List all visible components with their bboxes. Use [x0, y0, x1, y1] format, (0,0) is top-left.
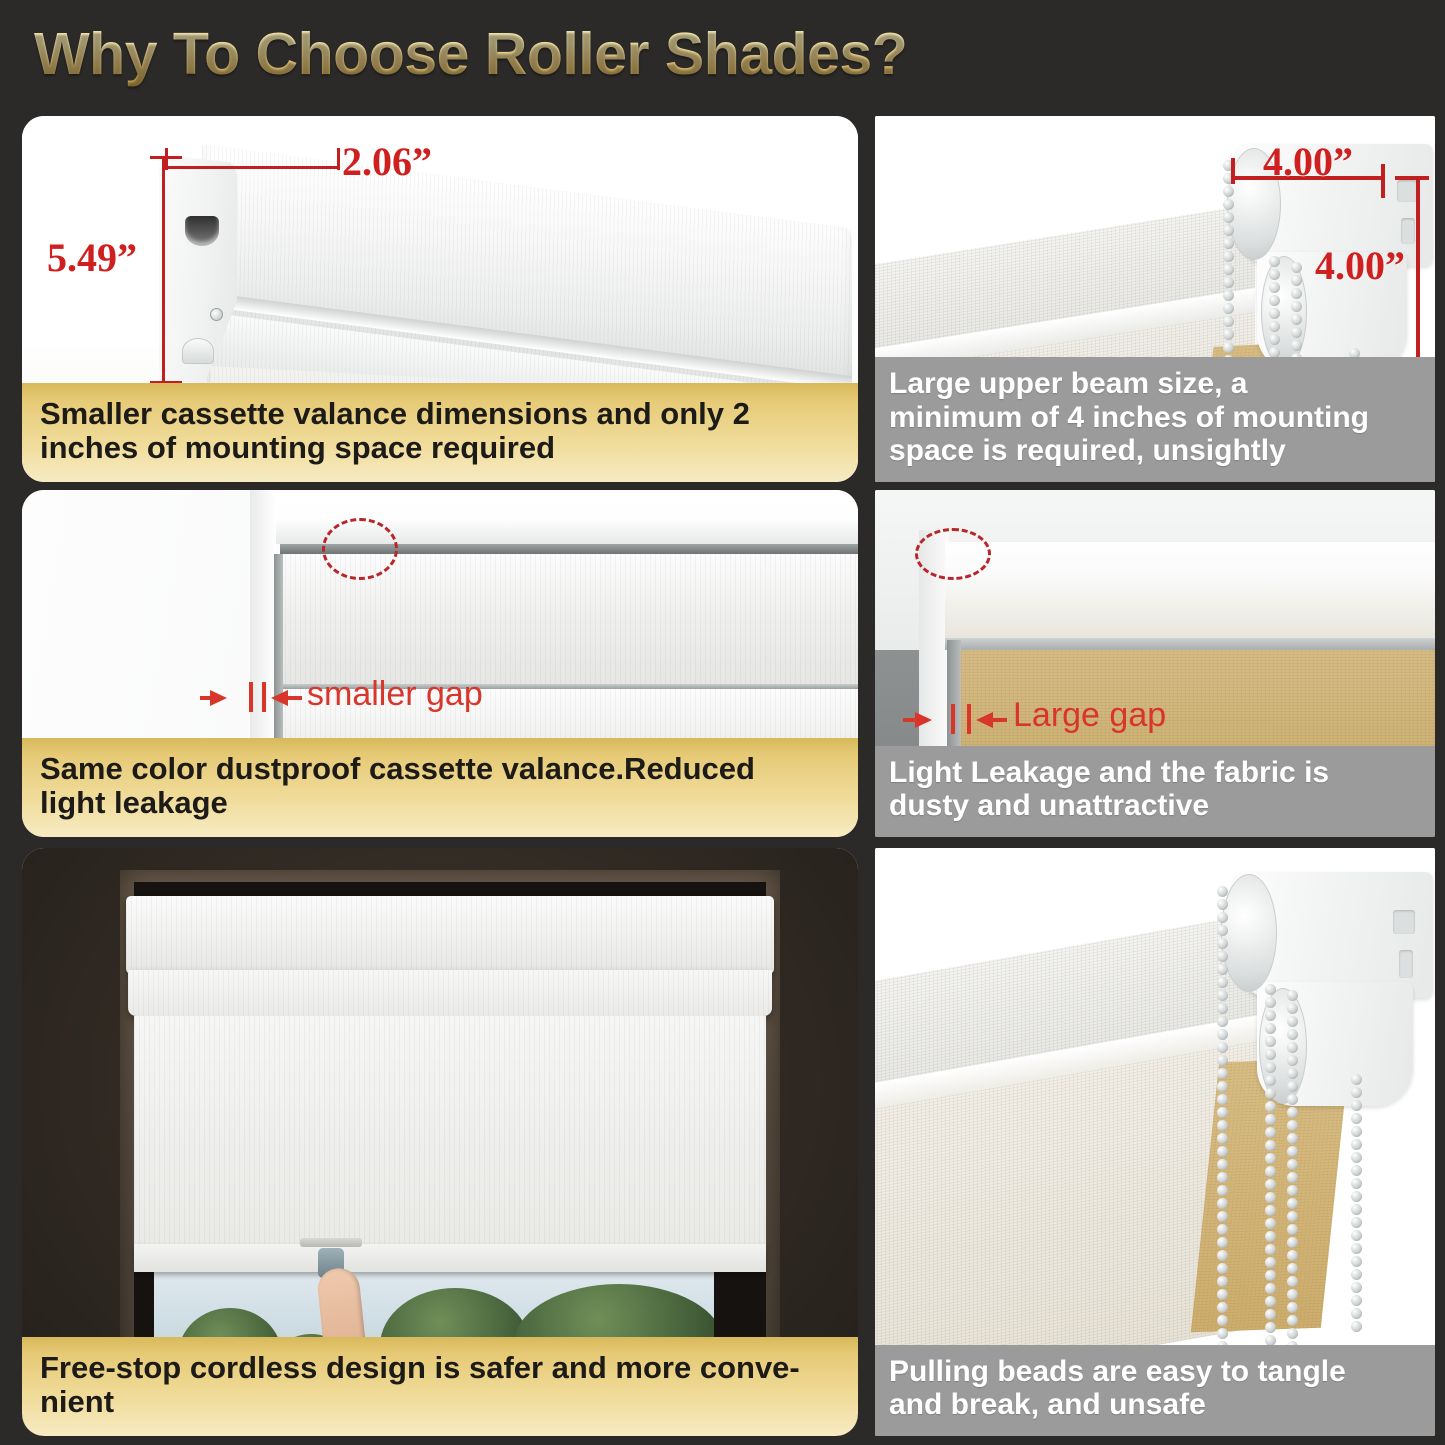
page-title: Why To Choose Roller Shades? [34, 20, 907, 88]
height-dimension-line [162, 156, 165, 384]
panel-pulling-beads-unsafe: Pulling beads are easy to tangle and bre… [875, 848, 1435, 1436]
panel-large-upper-beam: 4.00” 4.00” Large upper beam size, a min… [875, 116, 1435, 482]
gap-arrow-right-icon [915, 712, 932, 728]
cassette-valance [126, 896, 774, 974]
shade-fabric [134, 1016, 766, 1256]
bracket-slot-icon [185, 216, 219, 246]
height-dimension-label: 5.49” [47, 234, 137, 281]
caption-light-leakage-dusty: Light Leakage and the fabric is dusty an… [875, 746, 1435, 837]
gap-highlight-circle [322, 518, 398, 580]
gap-arrow-left-icon [976, 712, 993, 728]
caption-line: Light Leakage and the fabric is [889, 756, 1421, 790]
panel-free-stop-cordless: Free-stop cordless design is safer and m… [22, 848, 858, 1436]
height-dimension-label: 4.00” [1315, 242, 1405, 289]
gap-highlight-circle [915, 528, 991, 580]
caption-line: nient [40, 1385, 840, 1420]
caption-line: Same color dustproof cassette valance.Re… [40, 752, 840, 787]
gap-marker-right [967, 704, 971, 734]
gap-arrow-stem [993, 718, 1007, 722]
cassette-valance-lower [128, 970, 772, 1016]
gap-marker-left [951, 704, 955, 734]
valance-bottom-lip [945, 638, 1435, 650]
width-dimension-line [165, 166, 339, 169]
panel-cassette-valance-dimensions: 5.49” 2.06” Smaller cassette valance dim… [22, 116, 858, 482]
caption-line: minimum of 4 inches of mounting [889, 401, 1421, 435]
width-dimension-tick-left [165, 148, 168, 170]
caption-cassette-valance-dimensions: Smaller cassette valance dimensions and … [22, 383, 858, 482]
bead-chain[interactable] [1351, 1074, 1362, 1334]
bead-chain[interactable] [1217, 886, 1228, 1354]
gap-callout-label: Large gap [1013, 696, 1166, 735]
caption-pulling-beads-unsafe: Pulling beads are easy to tangle and bre… [875, 1345, 1435, 1436]
width-dimension-label: 4.00” [1263, 138, 1353, 185]
bottom-rail[interactable] [134, 1244, 766, 1272]
height-dimension-line [1416, 178, 1420, 366]
gap-callout-label: smaller gap [307, 675, 483, 714]
gap-arrow-stem [200, 696, 214, 700]
pull-tab[interactable] [300, 1238, 362, 1247]
caption-line: Free-stop cordless design is safer and m… [40, 1351, 840, 1386]
bracket-slot-icon [1399, 950, 1413, 978]
gap-marker-left [249, 682, 253, 712]
bracket-slot-icon [1393, 910, 1415, 934]
caption-line: Pulling beads are easy to tangle [889, 1355, 1421, 1389]
width-dimension-label: 2.06” [342, 138, 432, 185]
bracket-slot-icon [1397, 180, 1417, 202]
bracket-slot-icon [1401, 218, 1415, 244]
caption-line: Large upper beam size, a [889, 367, 1421, 401]
gap-arrow-stem [903, 718, 917, 722]
caption-free-stop-cordless: Free-stop cordless design is safer and m… [22, 1337, 858, 1436]
width-dimension-tick-left [1231, 158, 1235, 184]
gap-marker-right [262, 682, 266, 712]
caption-smaller-gap-dustproof: Same color dustproof cassette valance.Re… [22, 738, 858, 837]
width-dimension-tick-right [1381, 164, 1385, 198]
height-dimension-tick-top [1395, 176, 1429, 180]
panel-light-leakage-dusty: Large gap Light Leakage and the fabric i… [875, 490, 1435, 837]
width-dimension-tick-right [337, 148, 340, 170]
caption-line: inches of mounting space required [40, 431, 840, 466]
caption-line: space is required, unsightly [889, 434, 1421, 468]
gap-arrow-stem [288, 696, 302, 700]
caption-line: dusty and unattractive [889, 789, 1421, 823]
page-header: Why To Choose Roller Shades? [0, 0, 1445, 108]
caption-line: light leakage [40, 786, 840, 821]
comparison-grid: 5.49” 2.06” Smaller cassette valance dim… [0, 108, 1445, 1445]
caption-line: Smaller cassette valance dimensions and … [40, 397, 840, 432]
bead-chain[interactable] [1265, 984, 1276, 1361]
panel-smaller-gap-dustproof: smaller gap Same color dustproof cassett… [22, 490, 858, 837]
roller-end-cap [1221, 874, 1277, 992]
bracket-screw-icon [210, 308, 223, 321]
caption-large-upper-beam: Large upper beam size, a minimum of 4 in… [875, 357, 1435, 482]
upper-beam-valance [945, 542, 1435, 638]
bracket-knob-icon [182, 338, 214, 364]
caption-line: and break, and unsafe [889, 1388, 1421, 1422]
gap-arrow-left-icon [271, 690, 288, 706]
bead-chain[interactable] [1287, 990, 1298, 1354]
